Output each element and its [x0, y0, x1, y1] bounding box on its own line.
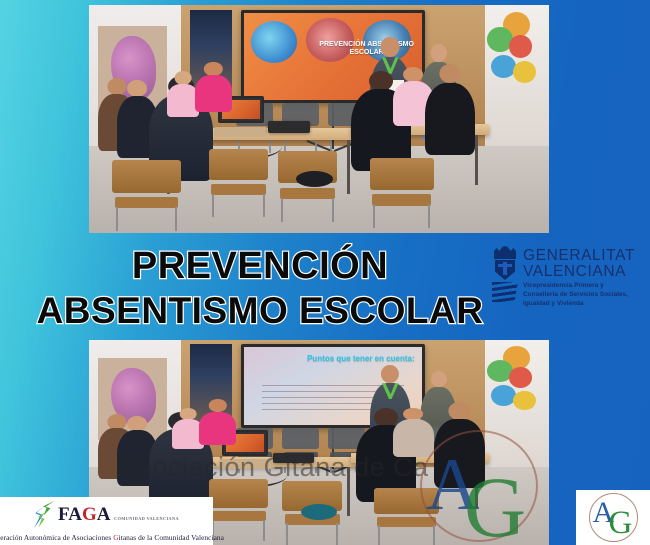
faga-logo-box: FAGA COMUNIDAD VALENCIANA Federación Aut… [0, 497, 213, 545]
faga-word-part-2: G [82, 504, 97, 525]
ag-letter-g: G [609, 507, 633, 540]
faga-flame-icon [34, 501, 56, 529]
title-line-2: ABSENTISMO ESCOLAR [37, 289, 484, 332]
table-leg [347, 467, 350, 516]
chair-front-2 [209, 149, 269, 217]
faga-wordmark: FAGA COMUNIDAD VALENCIANA [58, 505, 179, 524]
wall-decoration-circles [485, 346, 545, 416]
ag-logo-box: A G [576, 490, 650, 545]
participant-7 [393, 408, 434, 457]
generalitat-valenciana-logo: GENERALITAT VALENCIANA Vicepresidencia P… [492, 246, 644, 308]
generalitat-subtitle-2: Conselleria de Servicios Sociales, [523, 291, 635, 300]
generalitat-subtitle-1: Vicepresidencia Primera y [523, 282, 635, 291]
faga-community-label: COMUNIDAD VALENCIANA [114, 516, 179, 521]
chair-front-4 [374, 488, 438, 545]
faga-tagline-part-2: itanas de la Comunidad Valenciana [119, 533, 224, 542]
table-leg [475, 135, 478, 185]
table-leg [347, 140, 350, 195]
classroom-scene-top: PREVENCIÓN ABSENTISMO ESCOLAR [89, 5, 549, 233]
faga-word-part-3: A [97, 504, 110, 525]
slide-circle-1 [251, 21, 297, 63]
participant-8 [425, 64, 476, 155]
generalitat-line-1: GENERALITAT [523, 248, 635, 264]
poster-title: PREVENCIÓN ABSENTISMO ESCOLAR [0, 236, 520, 340]
faga-word-part-1: FA [58, 504, 82, 525]
projector-top [268, 121, 309, 132]
faga-tagline: Federación Autonómica de Asociaciones Gi… [0, 533, 224, 542]
title-line-1: PREVENCIÓN [132, 244, 388, 288]
wall-decoration-circles [485, 12, 545, 90]
chair-front-1 [112, 160, 181, 231]
generalitat-subtitle-3: Igualdad y Vivienda [523, 300, 635, 309]
ag-circle-icon: A G [589, 493, 638, 542]
photo-top: PREVENCIÓN ABSENTISMO ESCOLAR [89, 5, 549, 233]
generalitat-text-block: GENERALITAT VALENCIANA Vicepresidencia P… [523, 246, 635, 308]
faga-tagline-part-1: Federación Autonómica de Asociaciones [0, 533, 113, 542]
participant-5 [195, 62, 232, 112]
generalitat-shield-icon [492, 246, 518, 302]
generalitat-line-2: VALENCIANA [523, 264, 635, 280]
slide-title-bottom: Puntos que tener en cuenta: [283, 355, 415, 364]
projector-bottom [273, 453, 314, 463]
participant-5 [199, 399, 236, 444]
participant-8 [434, 402, 485, 488]
faga-mark: FAGA COMUNIDAD VALENCIANA [34, 501, 179, 529]
chair-front-4 [370, 158, 434, 229]
